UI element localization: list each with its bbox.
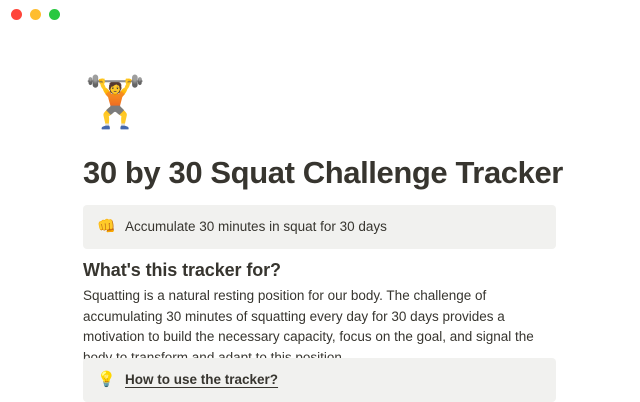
howto-callout[interactable]: 💡 How to use the tracker? (83, 358, 556, 402)
fist-icon: 👊 (97, 217, 115, 237)
window-titlebar (0, 0, 640, 30)
window-traffic-lights (11, 9, 60, 20)
page-content: 🏋️ 30 by 30 Squat Challenge Tracker 👊 Ac… (0, 30, 640, 400)
goal-callout[interactable]: 👊 Accumulate 30 minutes in squat for 30 … (83, 205, 556, 249)
person-lifting-weights-icon[interactable]: 🏋️ (84, 74, 146, 130)
lightbulb-icon: 💡 (97, 370, 115, 390)
goal-callout-text: Accumulate 30 minutes in squat for 30 da… (125, 217, 387, 237)
section-paragraph[interactable]: Squatting is a natural resting position … (83, 286, 556, 368)
page-title[interactable]: 30 by 30 Squat Challenge Tracker (83, 154, 583, 192)
section-heading[interactable]: What's this tracker for? (83, 258, 281, 282)
howto-callout-link[interactable]: How to use the tracker? (125, 370, 278, 390)
maximize-window-button[interactable] (49, 9, 60, 20)
close-window-button[interactable] (11, 9, 22, 20)
minimize-window-button[interactable] (30, 9, 41, 20)
